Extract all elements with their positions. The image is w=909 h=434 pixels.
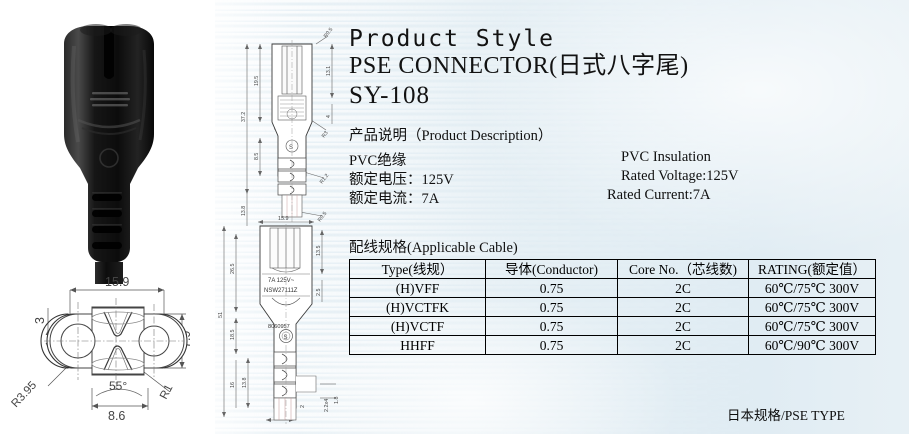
table-row: (H)VCTF 0.75 2C 60℃/75℃ 300V [350, 317, 876, 336]
product-style-label: Product Style [349, 26, 905, 53]
cell-conductor: 0.75 [486, 279, 618, 298]
svg-text:R0.5: R0.5 [323, 27, 335, 39]
product-photo [34, 16, 184, 284]
description-cn: 额定电压：125V [349, 168, 454, 189]
svg-text:26.5: 26.5 [230, 264, 236, 275]
cell-core-no: 2C [618, 298, 749, 317]
svg-text:15.9: 15.9 [278, 216, 289, 222]
svg-text:S: S [289, 145, 293, 151]
svg-text:4: 4 [326, 115, 332, 118]
applicable-cable-block: 配线规格(Applicable Cable) Type(线规） 导体(Condu… [349, 236, 877, 355]
cell-type: HHFF [350, 336, 486, 355]
svg-text:1.8: 1.8 [334, 397, 340, 405]
svg-text:13.1: 13.1 [326, 66, 332, 76]
cell-rating: 60℃/75℃ 300V [749, 298, 876, 317]
description-en: Rated Current:7A [607, 187, 711, 204]
cell-type: (H)VCTFK [350, 298, 486, 317]
svg-text:S: S [284, 335, 288, 341]
cell-conductor: 0.75 [486, 298, 618, 317]
cell-core-no: 2C [618, 279, 749, 298]
datasheet-page: 15.9 7.9 3 8.6 [0, 0, 909, 434]
drawing-side-elevation: 37.2 19.5 8.5 13.8 13.1 [238, 26, 346, 231]
applicable-cable-table: Type(线规） 导体(Conductor) Core No.（芯线数) RAT… [349, 259, 876, 355]
cell-core-no: 2C [618, 336, 749, 355]
product-description-block: 产品说明（Product Description） PVC绝缘 PVC Insu… [349, 124, 905, 206]
description-cn: 额定电流：7A [349, 187, 439, 208]
svg-text:16: 16 [230, 382, 236, 388]
description-row: 额定电流：7A Rated Current:7A [349, 187, 905, 206]
connector-name: PSE CONNECTOR(日式八字尾) [349, 53, 905, 81]
product-description-title: 产品说明（Product Description） [349, 124, 905, 145]
svg-text:2.5: 2.5 [316, 289, 322, 297]
svg-text:3: 3 [33, 317, 47, 324]
cable-table-title: 配线规格(Applicable Cable) [349, 236, 877, 257]
table-row: (H)VCTFK 0.75 2C 60℃/75℃ 300V [350, 298, 876, 317]
svg-text:R1: R1 [158, 383, 175, 402]
description-cn: PVC绝缘 [349, 149, 406, 170]
table-row: (H)VFF 0.75 2C 60℃/75℃ 300V [350, 279, 876, 298]
svg-text:19.5: 19.5 [254, 76, 260, 86]
cell-type: (H)VCTF [350, 317, 486, 336]
description-en: PVC Insulation [621, 149, 711, 166]
description-en: Rated Voltage:125V [621, 168, 738, 185]
svg-text:2: 2 [300, 405, 306, 408]
svg-text:15.9: 15.9 [105, 275, 129, 289]
column-header-core-no: Core No.（芯线数) [618, 260, 749, 279]
svg-text:8.6: 8.6 [108, 409, 125, 423]
description-row: PVC绝缘 PVC Insulation [349, 149, 905, 168]
marking-serial: 8060957 [268, 324, 290, 330]
cell-conductor: 0.75 [486, 317, 618, 336]
product-info-column: Product Style PSE CONNECTOR(日式八字尾) SY-10… [349, 26, 905, 206]
marking-code: NSW27111Z [264, 288, 298, 294]
table-header-row: Type(线规） 导体(Conductor) Core No.（芯线数) RAT… [350, 260, 876, 279]
drawing-front-view: 15.9 7.9 3 8.6 [4, 268, 212, 430]
column-header-rating: RATING(额定值） [749, 260, 876, 279]
cell-core-no: 2C [618, 317, 749, 336]
svg-text:18.5: 18.5 [230, 330, 236, 341]
standard-note: 日本规格/PSE TYPE [727, 404, 845, 424]
description-row: 额定电压：125V Rated Voltage:125V [349, 168, 905, 187]
table-row: HHFF 0.75 2C 60℃/90℃ 300V [350, 336, 876, 355]
svg-text:37.2: 37.2 [241, 112, 247, 122]
svg-text:13.8: 13.8 [242, 378, 248, 389]
svg-text:R3.95: R3.95 [9, 379, 39, 410]
column-header-type: Type(线规） [350, 260, 486, 279]
svg-text:8.5: 8.5 [254, 153, 260, 160]
cell-rating: 60℃/90℃ 300V [749, 336, 876, 355]
svg-text:R3: R3 [321, 130, 330, 139]
drawing-top-elevation: 15.9 51 26.5 18.5 16 [216, 212, 344, 432]
cell-rating: 60℃/75℃ 300V [749, 317, 876, 336]
model-number: SY-108 [349, 81, 905, 110]
cell-type: (H)VFF [350, 279, 486, 298]
cell-conductor: 0.75 [486, 336, 618, 355]
title-block: Product Style PSE CONNECTOR(日式八字尾) SY-10… [349, 26, 905, 110]
svg-text:R1.2: R1.2 [319, 173, 331, 185]
column-header-conductor: 导体(Conductor) [486, 260, 618, 279]
svg-text:51: 51 [218, 312, 224, 318]
svg-text:13.5: 13.5 [316, 246, 322, 257]
cell-rating: 60℃/75℃ 300V [749, 279, 876, 298]
marking-rating: 7A 125V~ [268, 278, 295, 284]
svg-text:2.2x4: 2.2x4 [324, 399, 330, 412]
svg-text:55°: 55° [109, 379, 127, 393]
